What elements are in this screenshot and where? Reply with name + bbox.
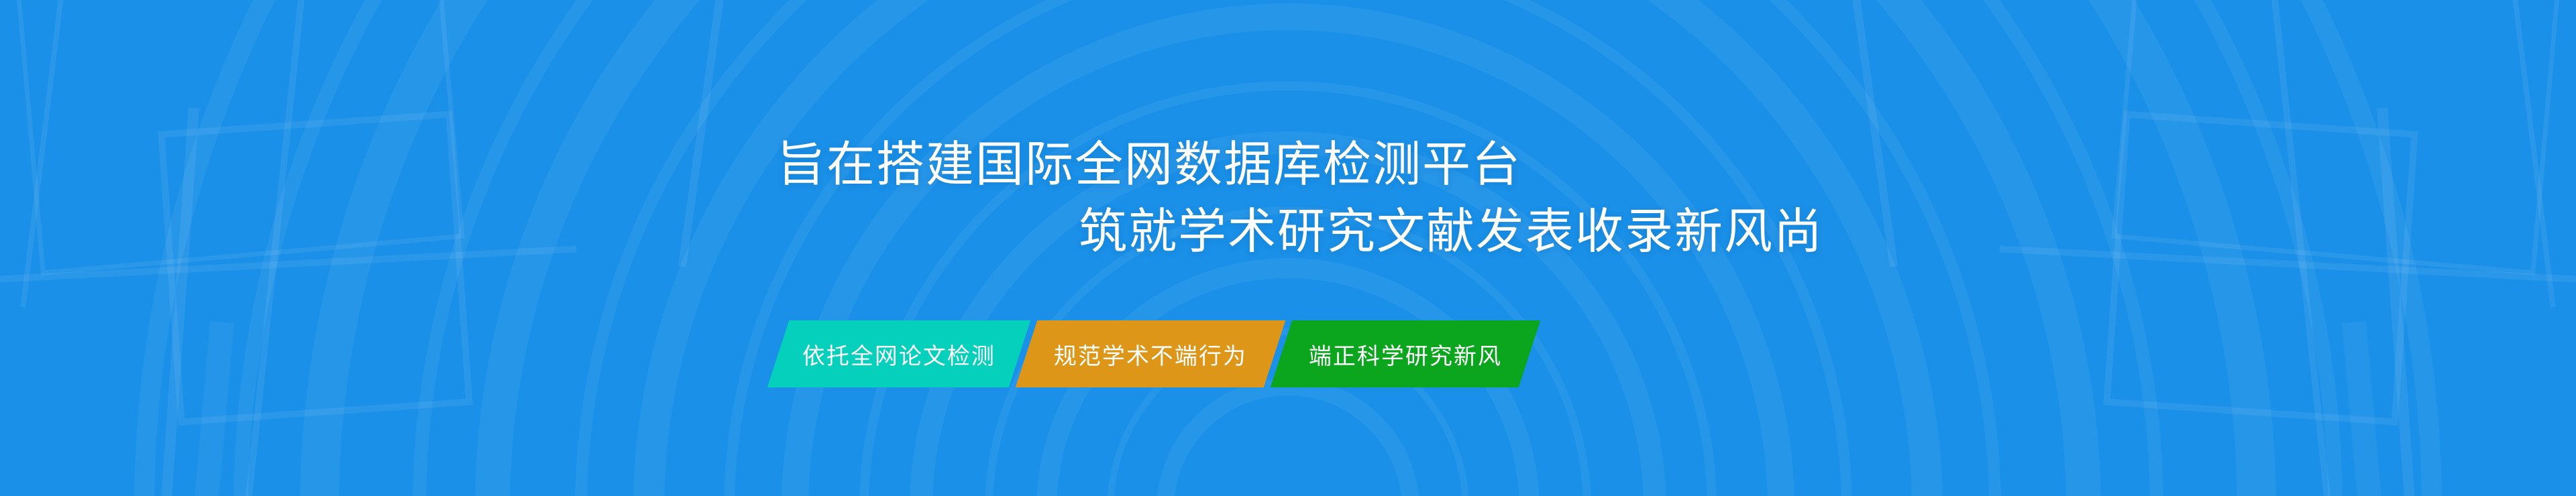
headline-block: 旨在搭建国际全网数据库检测平台 筑就学术研究文献发表收录新风尚 bbox=[0, 131, 2576, 265]
block-left-a bbox=[193, 321, 234, 496]
feature-tag-research-ethics[interactable]: 端正科学研究新风 bbox=[1271, 320, 1540, 387]
feature-tag-label: 端正科学研究新风 bbox=[1309, 338, 1502, 371]
feature-tag-label: 规范学术不端行为 bbox=[1054, 338, 1247, 371]
feature-tag-strip: 依托全网论文检测 规范学术不端行为 端正科学研究新风 bbox=[778, 320, 1529, 387]
block-right-a bbox=[2342, 321, 2383, 496]
feature-tag-misconduct-regulation[interactable]: 规范学术不端行为 bbox=[1016, 320, 1285, 387]
feature-tag-paper-detection[interactable]: 依托全网论文检测 bbox=[767, 320, 1030, 387]
promo-banner: 旨在搭建国际全网数据库检测平台 筑就学术研究文献发表收录新风尚 依托全网论文检测… bbox=[0, 0, 2576, 496]
headline-line-1: 旨在搭建国际全网数据库检测平台 bbox=[0, 131, 2576, 198]
feature-tag-label: 依托全网论文检测 bbox=[802, 338, 996, 371]
ripple-ring bbox=[1157, 378, 1419, 496]
headline-line-2: 筑就学术研究文献发表收录新风尚 bbox=[0, 198, 2576, 265]
